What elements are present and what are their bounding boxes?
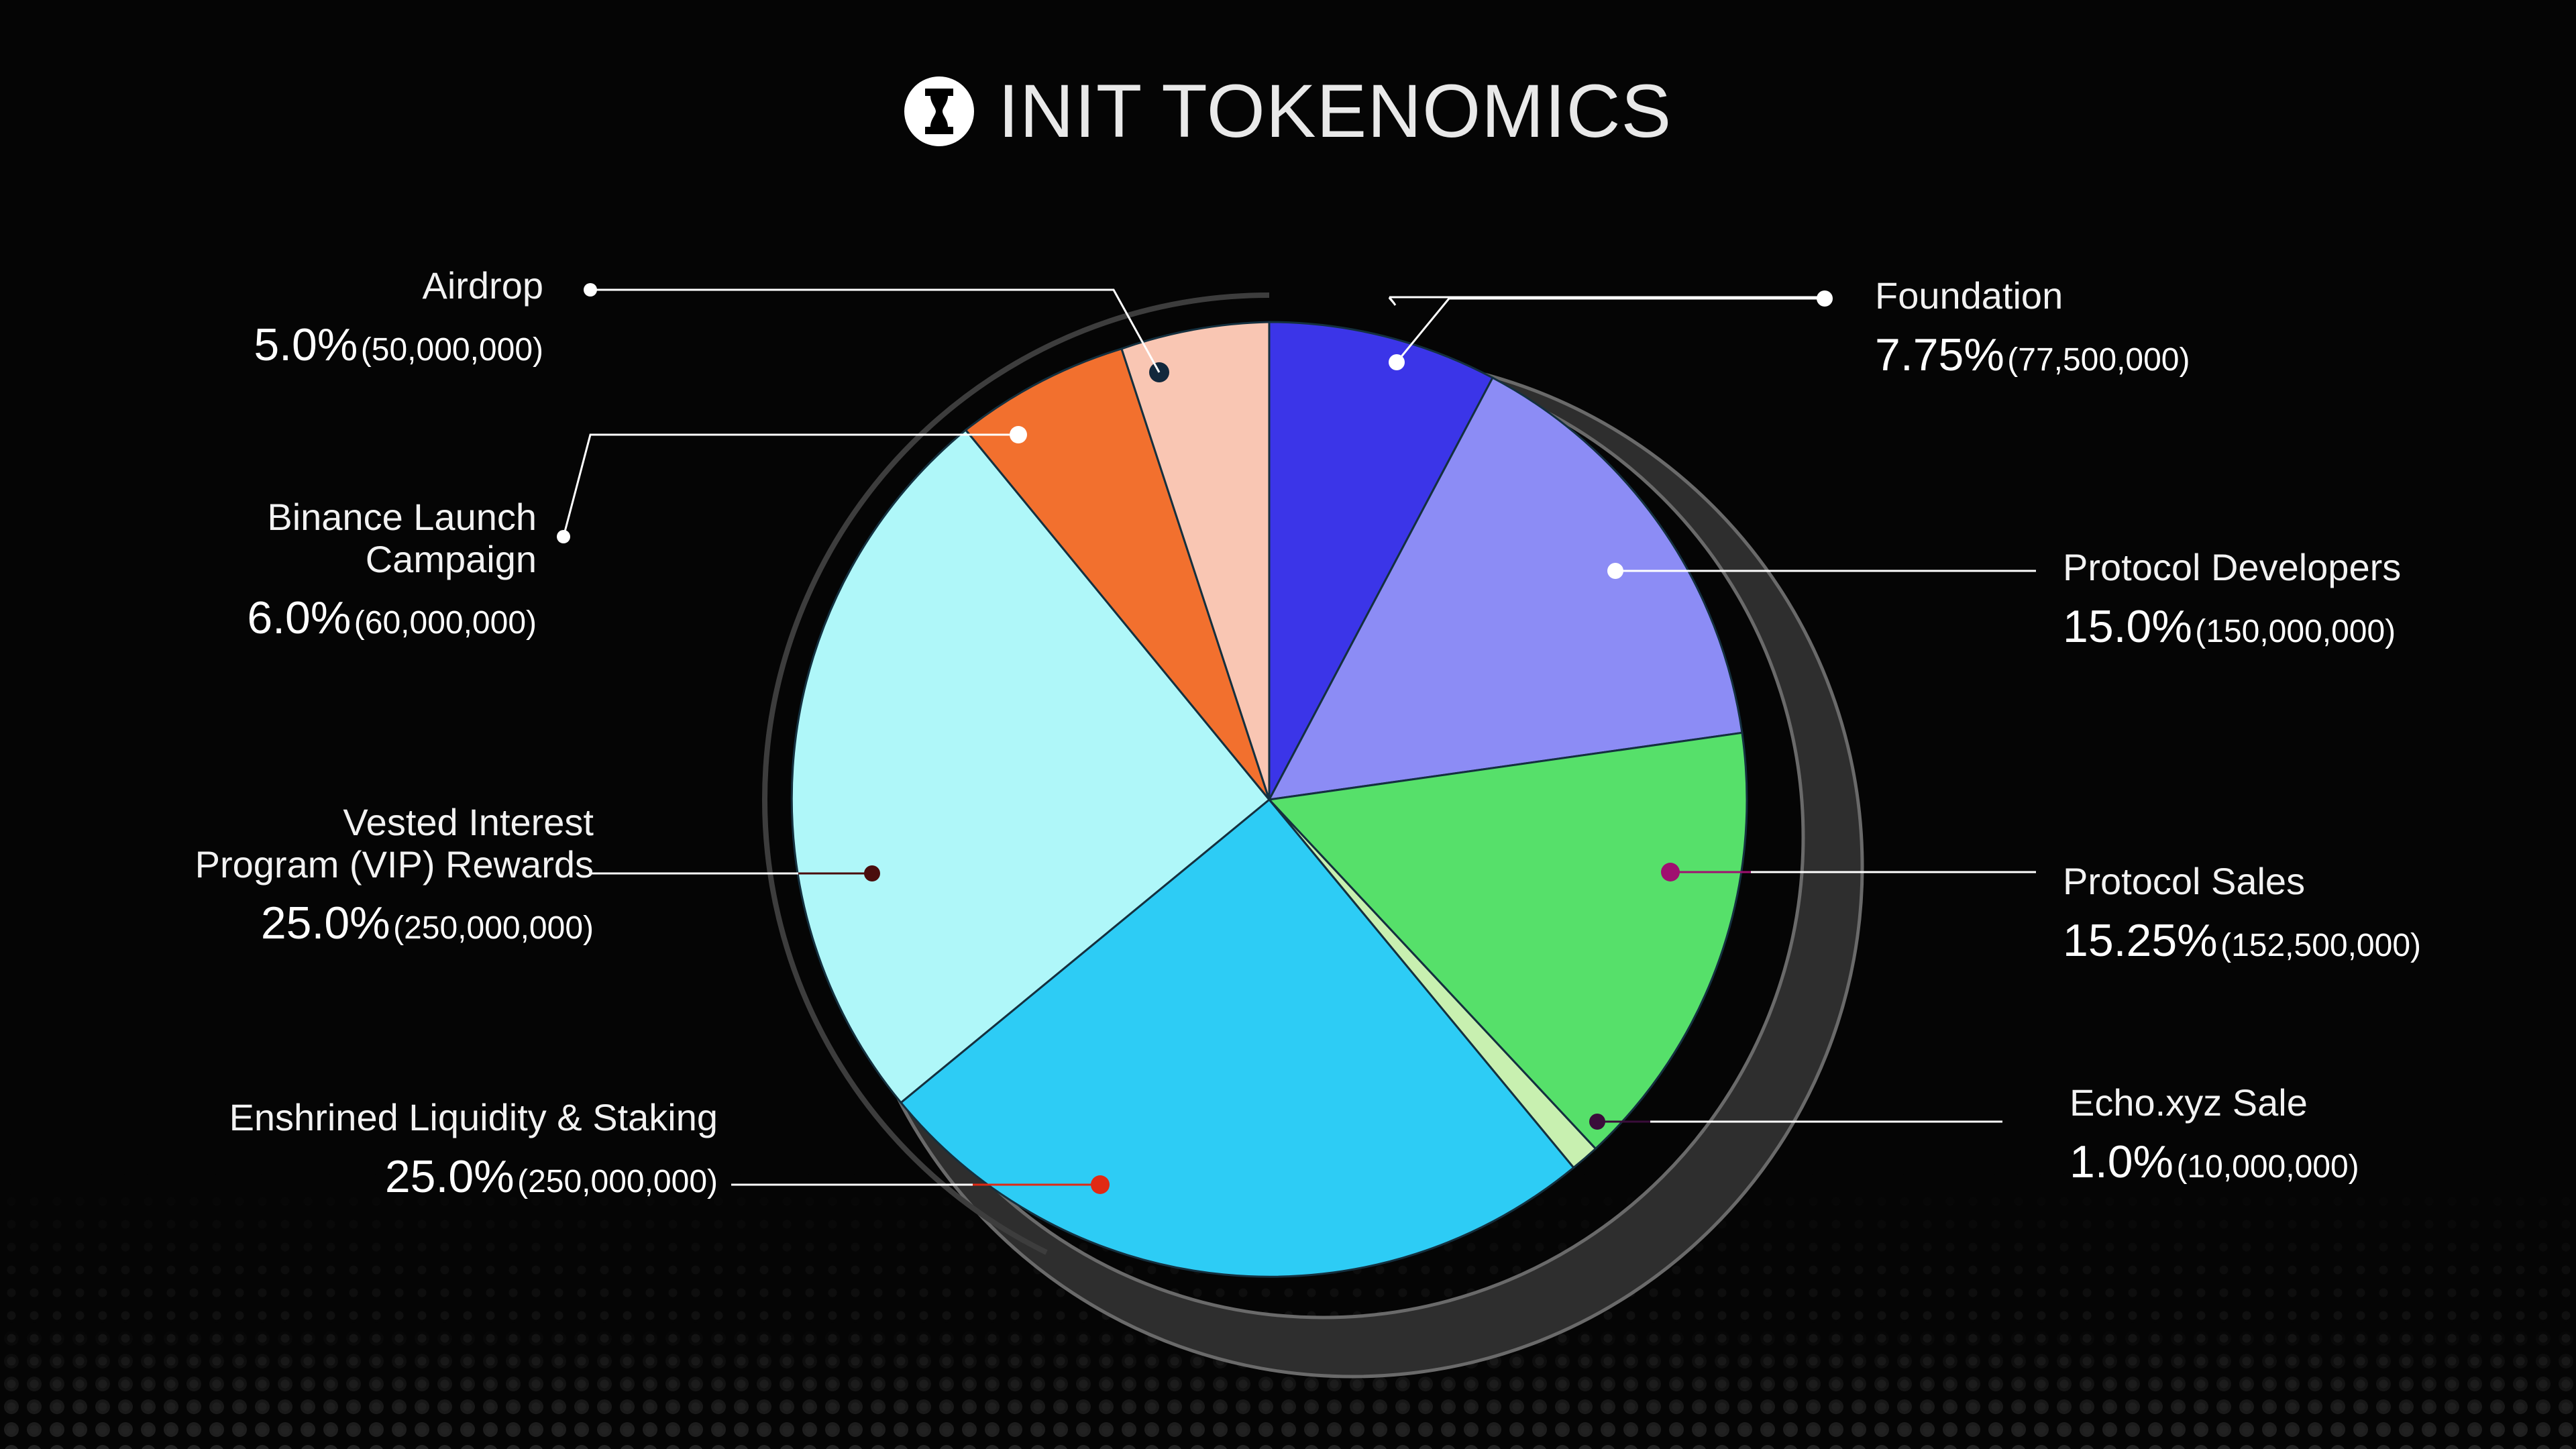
label-foundation-pct: 7.75% [1875, 329, 2004, 380]
label-echo-sale-count: (10,000,000) [2176, 1149, 2359, 1185]
label-enshrined-count: (250,000,000) [517, 1164, 718, 1199]
label-binance-count: (60,000,000) [354, 605, 537, 641]
tokenomics-chart: Airdrop 5.0% (50,000,000) Binance Launch… [0, 0, 2576, 1449]
label-binance-launch-campaign: Binance Launch Campaign 6.0% (60,000,000… [247, 496, 537, 644]
label-enshrined-liquidity-staking: Enshrined Liquidity & Staking 25.0% (250… [229, 1097, 718, 1202]
label-protocol-developers-count: (150,000,000) [2195, 614, 2396, 649]
label-airdrop: Airdrop 5.0% (50,000,000) [254, 265, 543, 370]
label-enshrined-pct: 25.0% [385, 1151, 515, 1202]
label-protocol-developers: Protocol Developers 15.0% (150,000,000) [2063, 547, 2401, 652]
label-airdrop-count: (50,000,000) [361, 332, 543, 368]
label-vip-pct: 25.0% [261, 898, 390, 949]
label-binance-pct: 6.0% [247, 592, 351, 643]
label-echo-sale-pct: 1.0% [2070, 1136, 2173, 1187]
leader-foundation [1389, 290, 1833, 370]
pie-slices [792, 322, 1747, 1277]
label-vip-count: (250,000,000) [393, 910, 594, 946]
label-protocol-sales-name: Protocol Sales [2063, 860, 2305, 902]
label-binance-name-line2: Campaign [366, 538, 537, 580]
label-foundation: Foundation 7.75% (77,500,000) [1875, 275, 2190, 380]
label-vip-rewards: Vested Interest Program (VIP) Rewards 25… [195, 802, 594, 949]
label-foundation-name: Foundation [1875, 274, 2063, 317]
label-protocol-developers-pct: 15.0% [2063, 601, 2192, 652]
label-airdrop-name: Airdrop [422, 264, 543, 307]
label-vip-name-line2: Program (VIP) Rewards [195, 843, 594, 885]
label-protocol-sales-pct: 15.25% [2063, 915, 2218, 966]
label-protocol-sales-count: (152,500,000) [2220, 928, 2421, 963]
label-echo-sale-name: Echo.xyz Sale [2070, 1081, 2308, 1124]
label-vip-name-line1: Vested Interest [343, 801, 594, 843]
label-foundation-count: (77,500,000) [2007, 342, 2190, 378]
label-airdrop-pct: 5.0% [254, 319, 358, 370]
label-binance-name-line1: Binance Launch [267, 496, 537, 538]
label-enshrined-name: Enshrined Liquidity & Staking [229, 1096, 718, 1138]
label-protocol-developers-name: Protocol Developers [2063, 546, 2401, 588]
label-echo-sale: Echo.xyz Sale 1.0% (10,000,000) [2070, 1082, 2359, 1187]
label-protocol-sales: Protocol Sales 15.25% (152,500,000) [2063, 861, 2421, 966]
